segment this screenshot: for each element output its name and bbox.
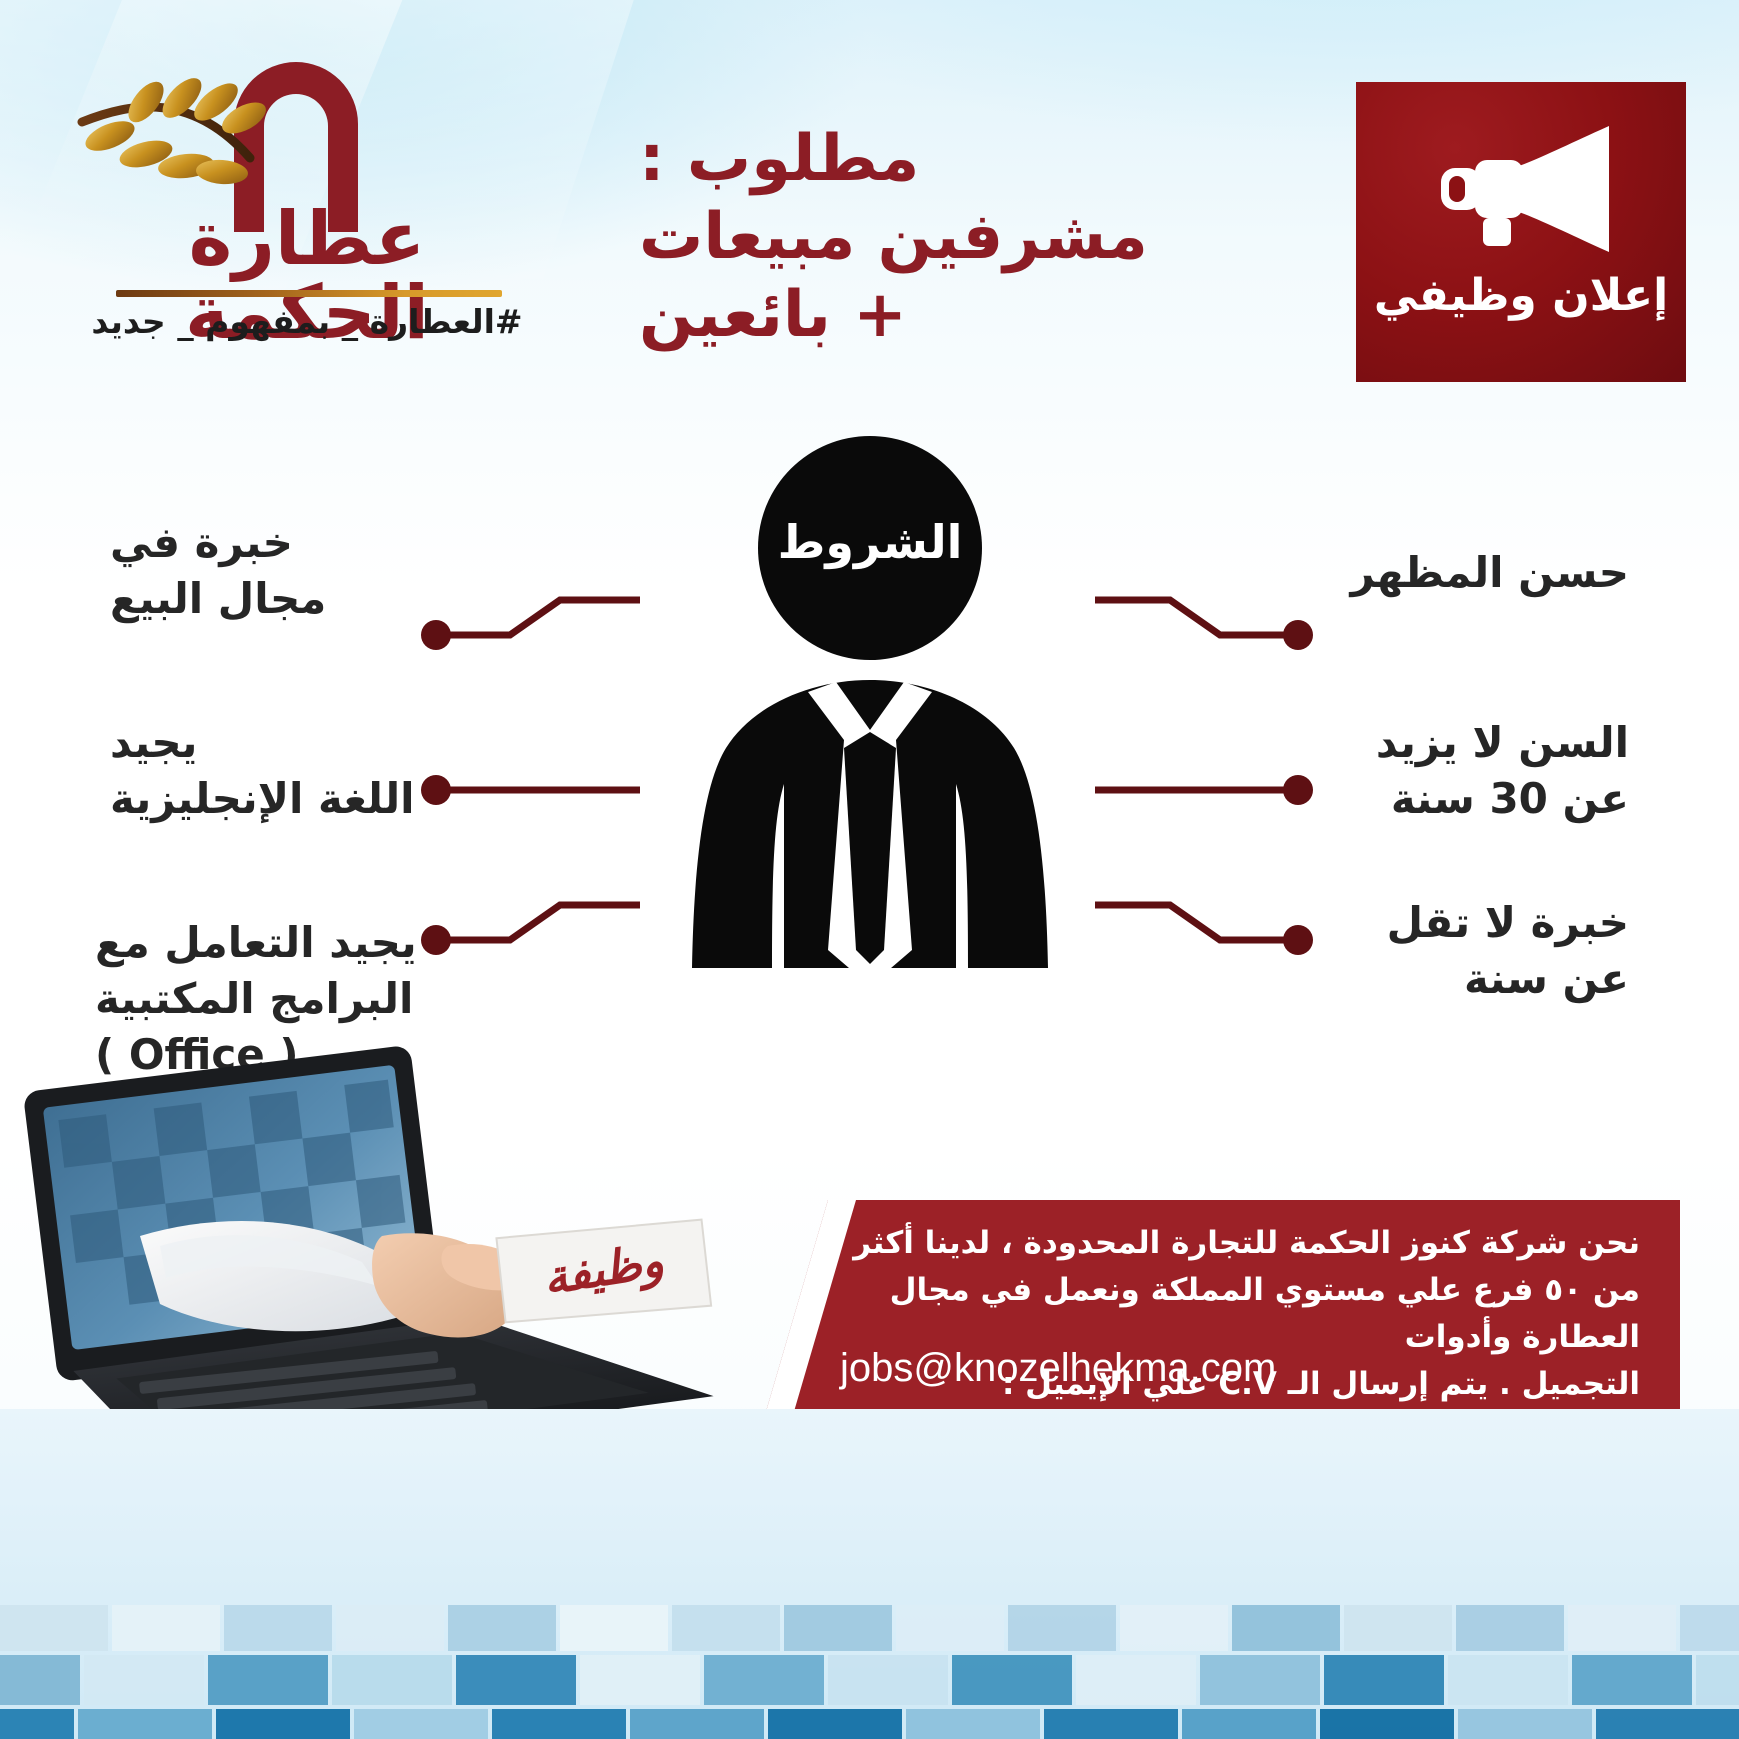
condition-right-1: حسن المظهر (1289, 545, 1629, 601)
company-info-panel: نحن شركة كنوز الحكمة للتجارة المحدودة ، … (760, 1200, 1680, 1432)
bottom-mosaic-decoration (0, 1409, 1739, 1739)
condition-left-3-line1: يجيد التعامل مع (95, 915, 425, 971)
condition-right-2-line2: عن 30 سنة (1289, 771, 1629, 827)
condition-right-3-line1: خبرة لا تقل (1289, 895, 1629, 951)
condition-left-2: يجيد اللغة الإنجليزية (110, 715, 440, 827)
condition-left-1: خبرة في مجال البيع (110, 515, 440, 627)
businessman-silhouette-icon (660, 430, 1080, 990)
laptop-with-hand-icon: وظيفة (10, 1040, 750, 1460)
condition-right-3: خبرة لا تقل عن سنة (1289, 895, 1629, 1007)
contact-email[interactable]: jobs@knozelhekma.com (840, 1346, 1640, 1391)
page-title: مطلوب : مشرفين مبيعات + بائعين (639, 120, 1159, 354)
company-logo: عطارة الحكمة #العطارة _ بمفهوم _ جديد (72, 62, 542, 312)
badge-label: إعلان وظيفي (1374, 270, 1668, 321)
condition-left-2-line2: اللغة الإنجليزية (110, 771, 440, 827)
condition-right-1-line1: حسن المظهر (1289, 545, 1629, 601)
condition-right-3-line2: عن سنة (1289, 951, 1629, 1007)
logo-divider-rule (116, 290, 502, 297)
condition-left-3-line2: البرامج المكتبية (95, 971, 425, 1027)
poster-canvas: عطارة الحكمة #العطارة _ بمفهوم _ جديد مط… (0, 0, 1739, 1739)
megaphone-icon (1423, 82, 1619, 256)
headline-line-2: مشرفين مبيعات (639, 198, 1159, 276)
job-announcement-badge: إعلان وظيفي (1356, 82, 1686, 382)
condition-right-2-line1: السن لا يزيد (1289, 715, 1629, 771)
condition-left-1-line1: خبرة في (110, 515, 440, 571)
condition-right-2: السن لا يزيد عن 30 سنة (1289, 715, 1629, 827)
headline-line-3: + بائعين (639, 276, 1159, 354)
logo-tagline: #العطارة _ بمفهوم _ جديد (72, 302, 542, 341)
headline-line-1: مطلوب : (639, 120, 1159, 198)
company-info-line-1: نحن شركة كنوز الحكمة للتجارة المحدودة ، … (840, 1220, 1640, 1267)
condition-left-1-line2: مجال البيع (110, 571, 440, 627)
condition-left-2-line1: يجيد (110, 715, 440, 771)
